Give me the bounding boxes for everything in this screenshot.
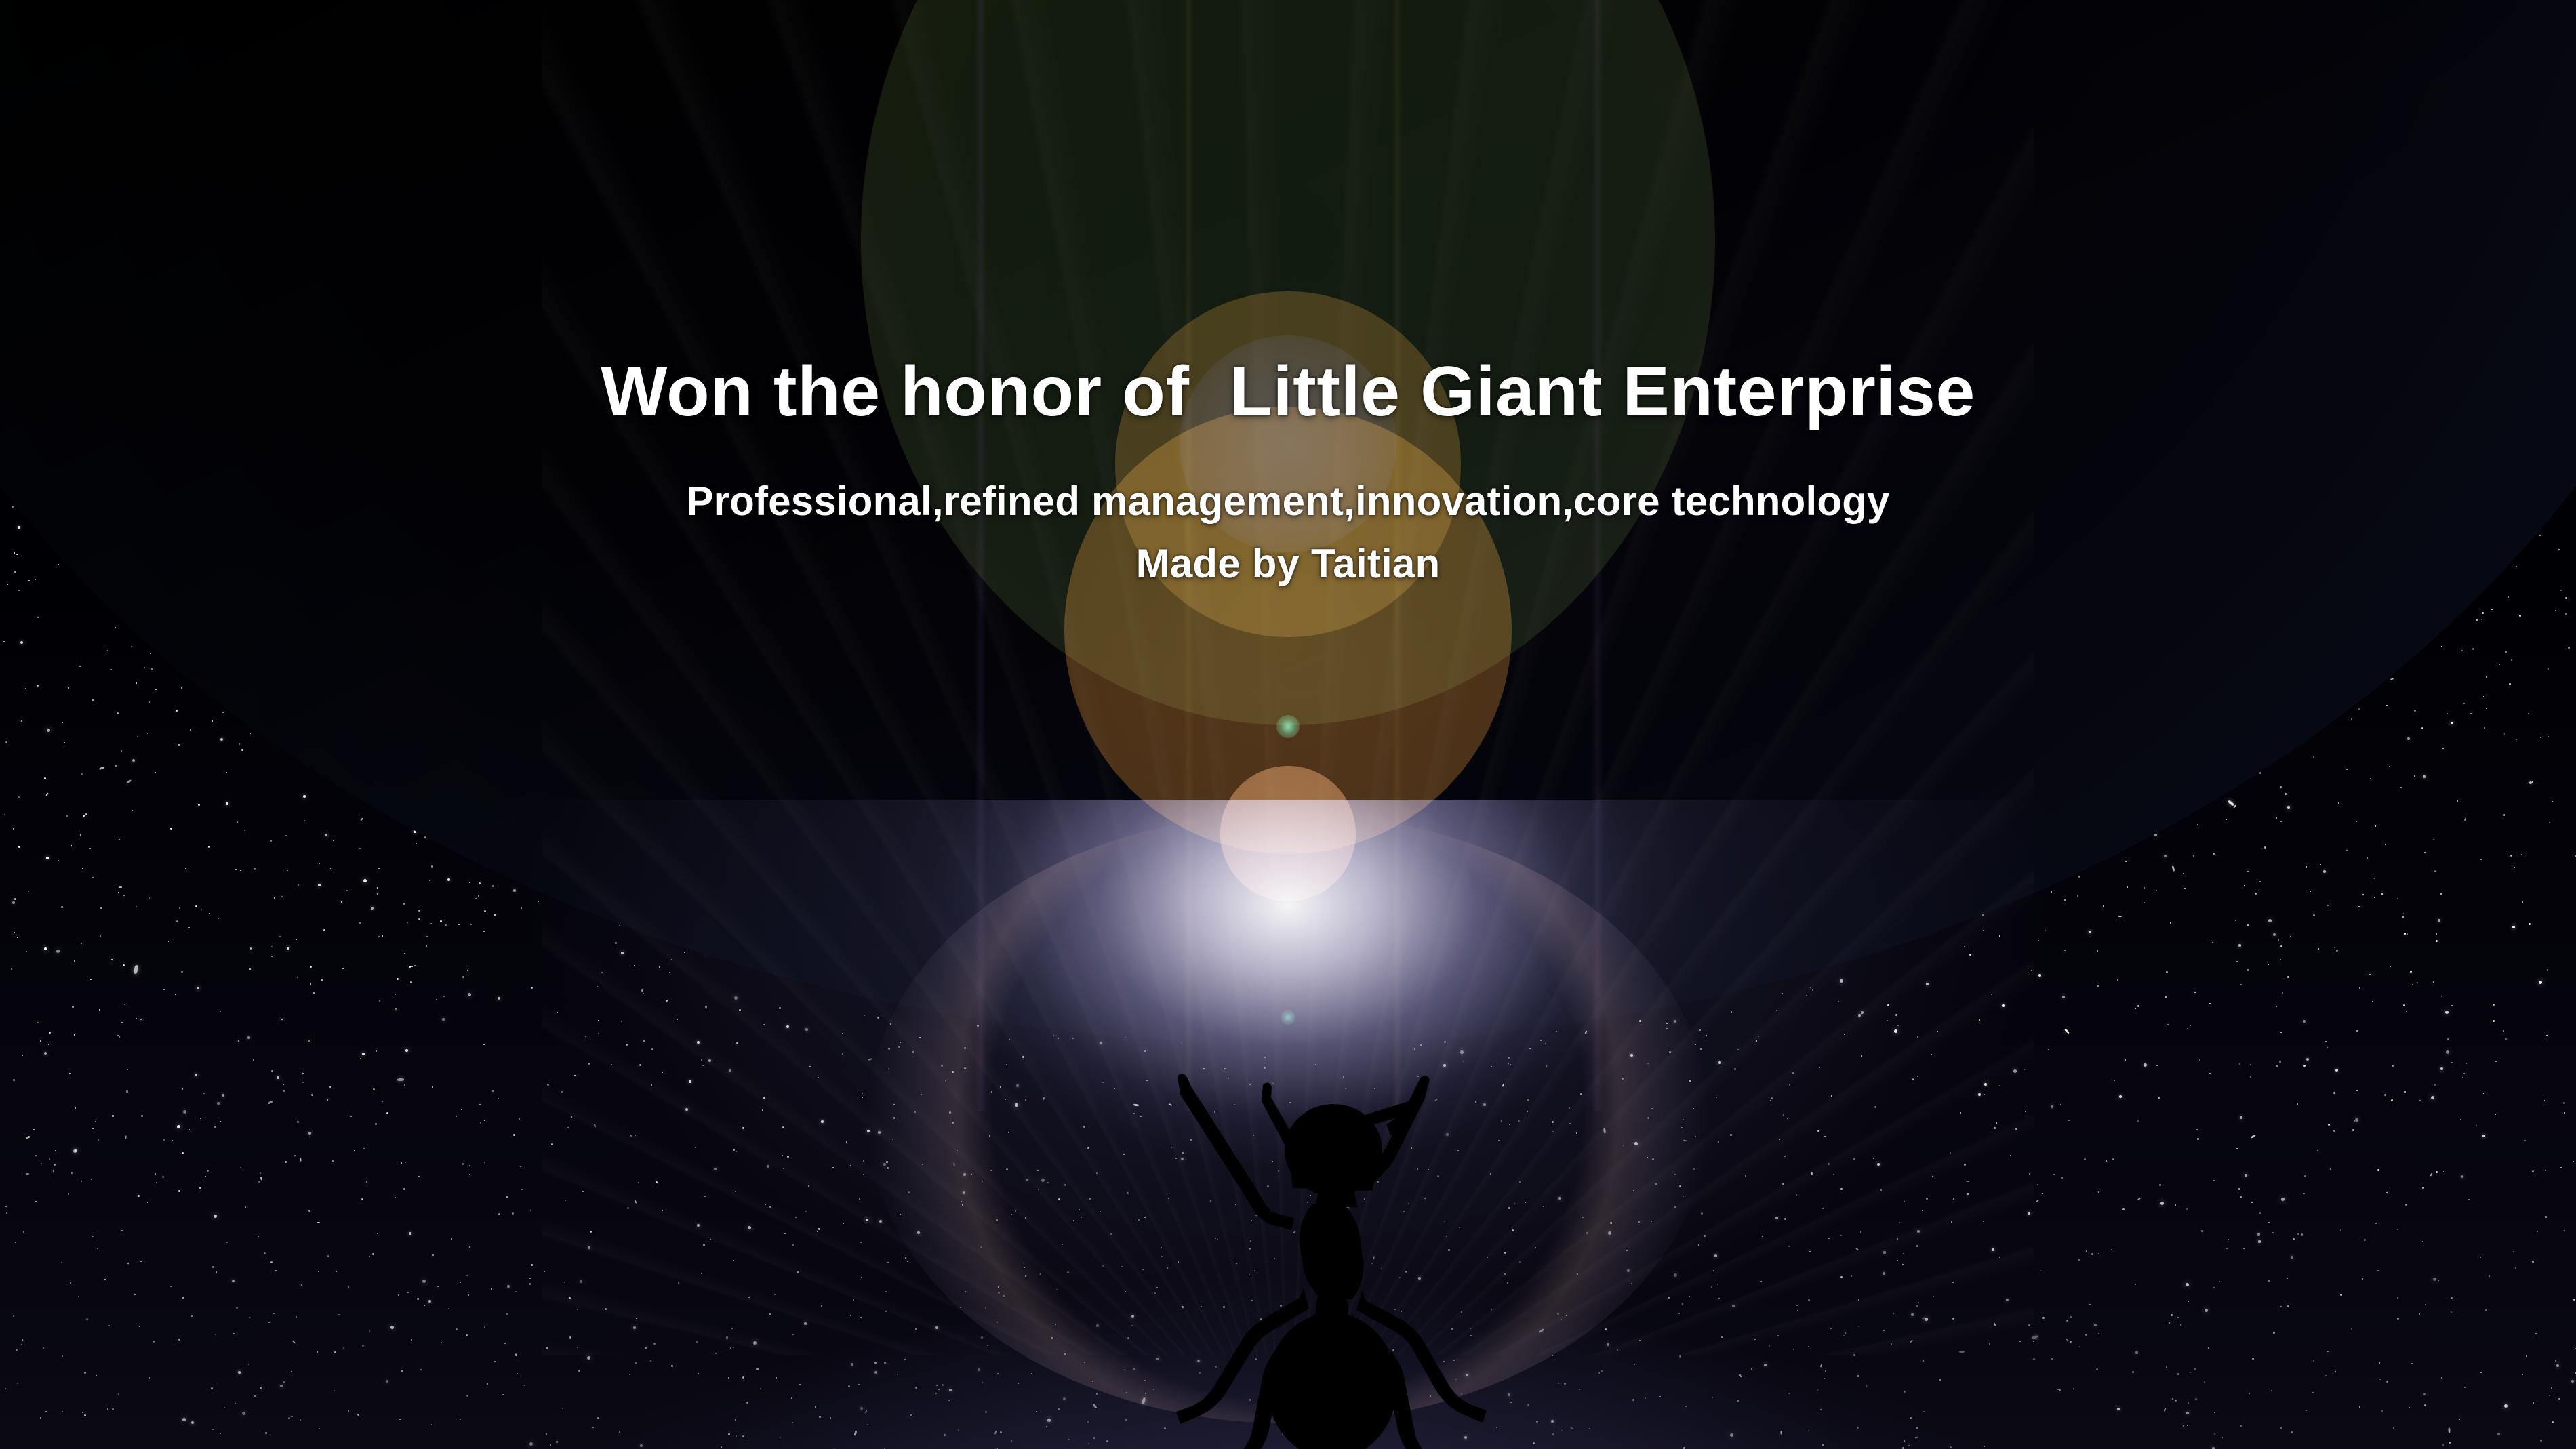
star [1455, 1379, 1457, 1380]
star [483, 931, 485, 932]
star [2503, 1030, 2504, 1032]
star [2333, 1130, 2335, 1132]
star [378, 868, 380, 869]
star [81, 773, 83, 775]
star [782, 1126, 784, 1128]
star [181, 971, 183, 973]
star [998, 1292, 1000, 1294]
star [1623, 1145, 1624, 1146]
star [2528, 713, 2529, 714]
star [151, 668, 153, 670]
star [2535, 1333, 2537, 1334]
star [279, 936, 281, 937]
star [696, 1341, 698, 1343]
star [1459, 1227, 1460, 1228]
star [2132, 1371, 2134, 1373]
star [662, 1072, 663, 1073]
star [458, 924, 460, 925]
star [2335, 1069, 2338, 1072]
star [1092, 1381, 1093, 1382]
star [2117, 1408, 2120, 1410]
star [359, 848, 361, 849]
star [2257, 1233, 2260, 1236]
star [235, 1403, 236, 1404]
star [182, 1088, 183, 1090]
star [1861, 1055, 1862, 1057]
star [156, 1182, 157, 1183]
star [1146, 1080, 1148, 1081]
star [5, 1206, 7, 1207]
star [1255, 1215, 1257, 1216]
star [199, 1187, 201, 1189]
star [1770, 1100, 1771, 1101]
star [273, 1313, 275, 1314]
star [1475, 1101, 1476, 1103]
star [66, 815, 68, 817]
star [2250, 1076, 2251, 1078]
star [1018, 1383, 1019, 1384]
star [666, 1000, 668, 1002]
star [1683, 1140, 1687, 1142]
star [23, 1231, 24, 1233]
star [1011, 1440, 1012, 1442]
star [182, 1418, 186, 1421]
star [1123, 1154, 1125, 1155]
star [1063, 1397, 1066, 1400]
star [268, 1322, 270, 1323]
star [110, 669, 112, 670]
star [16, 554, 18, 555]
star [2290, 748, 2291, 750]
star [197, 987, 199, 989]
star [121, 1230, 123, 1231]
star [195, 1074, 197, 1076]
star [1249, 1248, 1251, 1250]
star [258, 1181, 260, 1183]
star [742, 1127, 744, 1129]
star [2381, 1410, 2383, 1412]
star [369, 1330, 370, 1332]
star [521, 1189, 523, 1190]
star [2404, 1091, 2406, 1093]
star [561, 1091, 563, 1093]
star [710, 1239, 711, 1240]
star [2033, 1341, 2034, 1342]
star [1324, 1263, 1326, 1265]
star [2522, 901, 2523, 903]
star [207, 1170, 209, 1172]
star [1866, 1385, 1867, 1387]
star [780, 1437, 781, 1438]
star [1446, 1133, 1449, 1136]
star [1508, 1393, 1510, 1396]
star [2386, 1381, 2388, 1383]
star [520, 1166, 521, 1167]
star [1918, 1302, 1919, 1303]
star [2247, 969, 2249, 971]
star [1793, 1349, 1794, 1350]
star [178, 744, 180, 746]
star [14, 552, 15, 554]
star [1504, 1252, 1506, 1254]
star [260, 1177, 262, 1180]
star [1783, 1114, 1784, 1116]
star [2463, 1073, 2465, 1074]
star [2180, 1324, 2181, 1326]
star [2489, 1275, 2490, 1277]
star [360, 1058, 361, 1059]
star [1674, 1206, 1676, 1208]
star [887, 1167, 889, 1169]
star [313, 992, 315, 994]
star [1605, 1328, 1607, 1330]
star [1383, 1171, 1384, 1172]
star [562, 1408, 563, 1409]
star [1916, 1245, 1918, 1247]
star [842, 1053, 843, 1055]
star [1533, 1442, 1535, 1444]
star [2259, 1212, 2261, 1214]
star [1272, 1083, 1274, 1084]
star [1182, 1306, 1184, 1308]
star [1730, 1134, 1732, 1136]
star [1405, 1271, 1407, 1273]
star [958, 1429, 959, 1431]
star [1923, 1411, 1925, 1412]
star [1952, 1318, 1954, 1320]
star [1713, 1270, 1714, 1271]
star [1334, 1224, 1336, 1226]
star [1381, 1268, 1382, 1269]
star [1463, 1061, 1464, 1062]
star [296, 1316, 297, 1318]
star [935, 1326, 938, 1329]
star [432, 1254, 434, 1256]
star [1274, 1258, 1275, 1259]
star [163, 989, 165, 990]
star [808, 1185, 809, 1187]
star [1632, 1399, 1634, 1401]
star [175, 994, 176, 995]
star [258, 1236, 259, 1237]
star [1430, 1395, 1431, 1397]
star [804, 1322, 807, 1325]
star [2313, 756, 2314, 758]
star [498, 1098, 499, 1099]
star [815, 1406, 816, 1408]
star [1428, 1169, 1429, 1170]
star [1133, 1368, 1135, 1370]
star [2285, 793, 2287, 795]
star [1084, 1362, 1085, 1363]
star [89, 848, 91, 849]
star [212, 1429, 214, 1430]
star [45, 792, 48, 796]
star [912, 1051, 914, 1053]
star [118, 1393, 119, 1395]
star [418, 1176, 420, 1177]
star [2028, 1212, 2030, 1215]
star [2094, 1324, 2097, 1326]
star [1125, 1419, 1127, 1421]
star [294, 1155, 296, 1156]
star [416, 843, 417, 844]
star [2098, 1191, 2099, 1193]
star [1316, 1337, 1317, 1339]
star [1730, 1433, 1733, 1437]
star [2169, 1322, 2170, 1324]
star [1036, 1411, 1037, 1412]
star [107, 1408, 108, 1410]
star [1068, 1439, 1070, 1440]
star [75, 1107, 76, 1109]
star [37, 1022, 39, 1023]
star [1414, 1048, 1415, 1050]
star [2529, 781, 2532, 784]
star [1903, 1253, 1904, 1254]
star [1015, 1103, 1018, 1107]
star [1734, 1068, 1736, 1070]
star [886, 1161, 888, 1163]
star [71, 845, 72, 846]
star [125, 779, 131, 784]
star [2089, 931, 2091, 933]
star [98, 767, 104, 771]
star [515, 1354, 517, 1356]
star [18, 526, 20, 529]
star [1312, 1229, 1313, 1231]
star [2323, 870, 2326, 873]
star [1904, 1201, 1905, 1202]
star [2226, 1248, 2228, 1249]
star [859, 1198, 860, 1200]
star [2268, 964, 2269, 965]
star [2188, 1301, 2189, 1302]
star [2033, 1358, 2035, 1360]
star [2313, 914, 2315, 916]
star [136, 906, 137, 907]
star [15, 1242, 16, 1243]
star [317, 1222, 320, 1223]
star [1711, 1286, 1712, 1288]
star [2547, 969, 2548, 971]
star [714, 1168, 717, 1170]
star [1144, 1217, 1146, 1218]
star [818, 1228, 820, 1230]
star [428, 1300, 431, 1303]
star [962, 1204, 963, 1206]
star [2447, 713, 2448, 714]
star [853, 1299, 854, 1301]
star [756, 1368, 759, 1370]
star [398, 1294, 399, 1296]
star [2436, 940, 2438, 942]
star [2355, 1118, 2358, 1122]
star [1914, 1436, 1918, 1439]
star [2097, 950, 2098, 952]
star [140, 1261, 142, 1262]
star [621, 1021, 622, 1022]
star [1096, 1172, 1098, 1174]
star [949, 1389, 952, 1391]
star [98, 1139, 99, 1141]
star [2493, 1004, 2495, 1006]
star [1254, 1270, 1255, 1271]
star [2549, 822, 2550, 823]
star [2278, 939, 2279, 941]
star [2504, 733, 2505, 735]
star [131, 646, 132, 647]
star [1598, 1372, 1600, 1374]
star [2533, 1402, 2534, 1404]
star [2306, 1410, 2307, 1411]
star [1917, 1230, 1920, 1233]
star [462, 976, 464, 978]
star [1552, 1131, 1554, 1132]
star [2184, 888, 2186, 889]
star [1777, 1335, 1779, 1336]
star [1322, 1210, 1323, 1212]
star [1717, 1284, 1718, 1285]
star [1731, 1011, 1732, 1013]
star [1902, 1447, 1904, 1449]
star [1950, 1446, 1952, 1448]
star [2405, 1204, 2407, 1206]
star [635, 1135, 636, 1136]
star [610, 918, 611, 920]
star [301, 1284, 302, 1286]
star [1911, 1313, 1914, 1316]
star [2280, 1306, 2282, 1307]
star [2079, 1346, 2080, 1347]
star [2051, 891, 2052, 893]
star [2186, 1283, 2189, 1286]
star [86, 1318, 88, 1320]
star [629, 1374, 630, 1375]
star [1645, 1397, 1646, 1399]
star [2387, 667, 2389, 669]
star [1540, 1040, 1542, 1041]
star [639, 1064, 641, 1066]
star [426, 936, 428, 937]
star [1015, 1210, 1016, 1212]
star [703, 1244, 705, 1246]
star [2156, 890, 2157, 891]
star [2040, 1270, 2041, 1271]
star [1820, 1409, 1822, 1410]
star [2573, 1299, 2575, 1301]
star [2244, 885, 2245, 886]
star [1343, 1076, 1344, 1078]
star [248, 1364, 249, 1365]
star [409, 1232, 411, 1235]
star [217, 1102, 220, 1105]
star [2422, 1187, 2424, 1189]
star [2433, 1278, 2436, 1281]
star [512, 1212, 514, 1215]
star [2135, 1351, 2138, 1354]
star [239, 743, 240, 745]
star [904, 1359, 906, 1360]
star [733, 1347, 734, 1348]
star [14, 932, 15, 933]
star [2404, 933, 2406, 935]
star [2406, 1011, 2407, 1012]
star [701, 1059, 702, 1061]
star [2367, 857, 2368, 859]
star [149, 1377, 150, 1379]
star [577, 1309, 578, 1310]
star [1181, 1158, 1184, 1160]
star [13, 828, 14, 830]
star [1333, 1425, 1335, 1427]
star [49, 1158, 50, 1160]
star [2364, 1239, 2366, 1241]
star [588, 1063, 590, 1065]
star [14, 571, 16, 573]
star [1144, 1380, 1146, 1381]
star [1695, 1136, 1696, 1137]
star [1186, 1093, 1188, 1094]
star [1087, 1147, 1089, 1149]
star [260, 1387, 262, 1389]
star [2059, 1389, 2061, 1391]
star [960, 1307, 961, 1308]
star [731, 1328, 733, 1329]
star [1081, 1217, 1082, 1218]
star [1214, 1111, 1215, 1113]
star [1361, 1139, 1363, 1141]
star [395, 1008, 397, 1010]
star [997, 1373, 999, 1374]
star [893, 1104, 895, 1105]
star [569, 1336, 571, 1339]
star [494, 914, 496, 916]
star [288, 1417, 290, 1419]
star [100, 935, 101, 937]
star [2194, 1368, 2196, 1370]
star [821, 1120, 824, 1123]
star [753, 1341, 757, 1345]
star [774, 1294, 776, 1295]
star [1539, 1328, 1544, 1333]
star [2327, 905, 2329, 906]
star [1106, 1440, 1108, 1442]
star [530, 1210, 531, 1211]
star [867, 1424, 868, 1425]
star [220, 738, 223, 741]
star [308, 1132, 311, 1135]
star [147, 1202, 148, 1203]
star [1760, 1281, 1762, 1282]
star [2564, 1230, 2565, 1231]
star [1652, 1158, 1654, 1160]
star [407, 1292, 409, 1293]
star [2545, 1170, 2546, 1171]
star [1502, 1083, 1505, 1086]
star [862, 1097, 863, 1098]
star [49, 1032, 51, 1034]
star [1153, 1389, 1154, 1390]
star [1706, 1035, 1707, 1036]
star [706, 1005, 707, 1008]
star [1992, 1248, 1994, 1251]
star [715, 1353, 717, 1354]
star [240, 870, 241, 871]
star [1210, 1200, 1211, 1202]
star [431, 1424, 432, 1425]
star [769, 1206, 771, 1208]
